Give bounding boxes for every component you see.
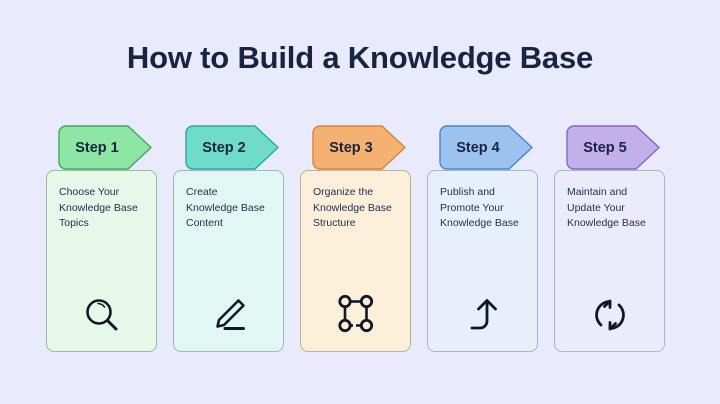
step-card-3[interactable]: Step 3 Organize the Knowledge Base Struc… bbox=[300, 125, 411, 355]
banner-arrow-shape-5 bbox=[567, 126, 659, 169]
banner-arrow-shape-2 bbox=[186, 126, 278, 169]
step-banner-4 bbox=[439, 125, 533, 170]
step-description-2: Create Knowledge Base Content bbox=[173, 185, 284, 232]
step-card-2[interactable]: Step 2 Create Knowledge Base Content bbox=[173, 125, 284, 355]
step-description-1: Choose Your Knowledge Base Topics bbox=[46, 185, 157, 232]
banner-arrow-shape-3 bbox=[313, 126, 405, 169]
banner-arrow-shape-1 bbox=[59, 126, 151, 169]
step-banner-3 bbox=[312, 125, 406, 170]
infographic-canvas: How to Build a Knowledge Base Step 1 Cho… bbox=[0, 0, 720, 404]
step-card-5[interactable]: Step 5 Maintain and Update Your Knowledg… bbox=[554, 125, 665, 355]
step-card-1[interactable]: Step 1 Choose Your Knowledge Base Topics bbox=[46, 125, 157, 355]
step-card-4[interactable]: Step 4 Publish and Promote Your Knowledg… bbox=[427, 125, 538, 355]
growth-arrow-icon bbox=[427, 295, 538, 335]
magnifier-icon bbox=[46, 295, 157, 335]
step-description-3: Organize the Knowledge Base Structure bbox=[300, 185, 411, 232]
pencil-icon bbox=[173, 295, 284, 335]
step-description-5: Maintain and Update Your Knowledge Base bbox=[554, 185, 665, 232]
steps-row: Step 1 Choose Your Knowledge Base Topics… bbox=[46, 125, 674, 355]
step-banner-1 bbox=[58, 125, 152, 170]
step-description-4: Publish and Promote Your Knowledge Base bbox=[427, 185, 538, 232]
banner-arrow-shape-4 bbox=[440, 126, 532, 169]
refresh-cycle-icon bbox=[554, 295, 665, 335]
step-banner-5 bbox=[566, 125, 660, 170]
step-banner-2 bbox=[185, 125, 279, 170]
page-title: How to Build a Knowledge Base bbox=[0, 40, 720, 76]
network-nodes-icon bbox=[300, 293, 411, 335]
